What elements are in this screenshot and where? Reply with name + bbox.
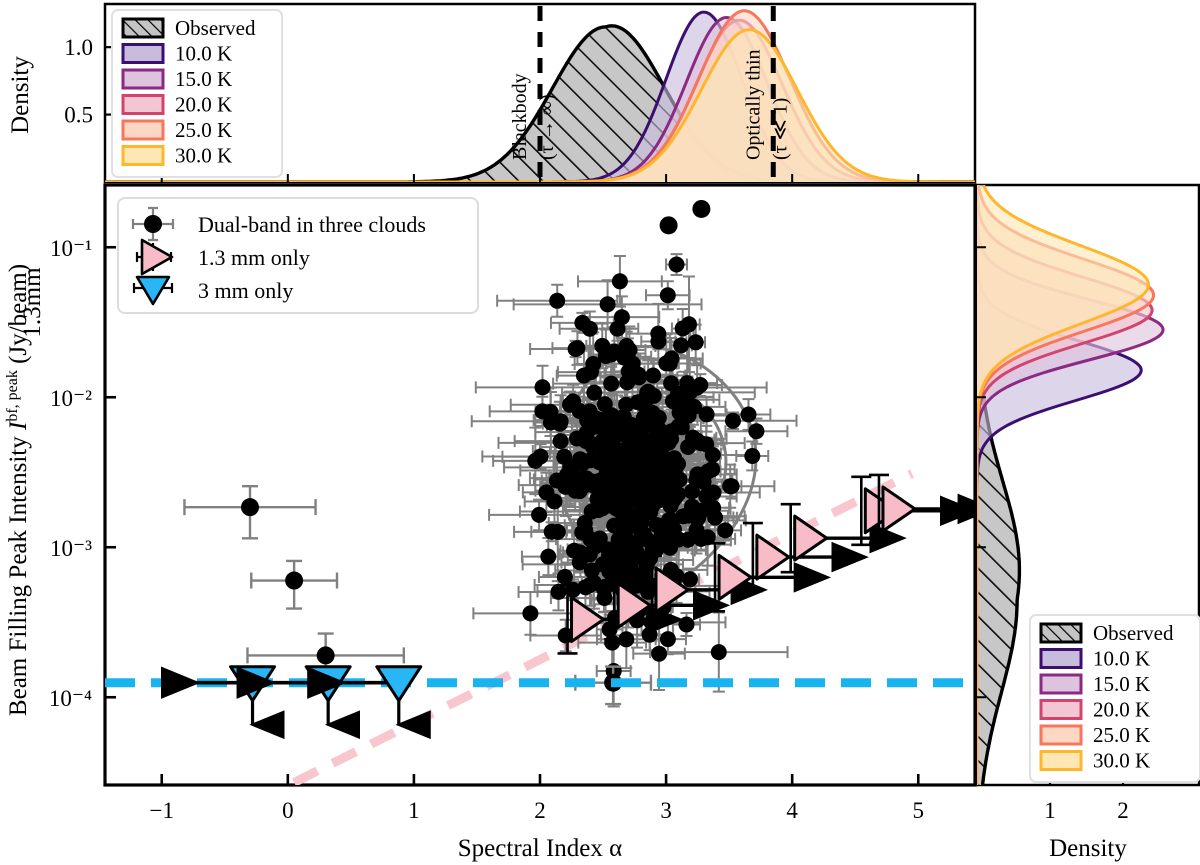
optically-thin-line-label-2: (τ ≪ 1) xyxy=(769,98,791,160)
right-kde-legend-item-1[interactable]: 10.0 K xyxy=(1041,647,1150,671)
scatter-point xyxy=(688,472,704,488)
top-kde-legend-label: 30.0 K xyxy=(175,144,232,168)
scatter-point xyxy=(637,410,653,426)
scatter-point xyxy=(692,377,708,393)
scatter-point xyxy=(604,635,620,651)
scatter-point xyxy=(596,412,612,428)
top-kde-legend-label: 20.0 K xyxy=(175,93,232,117)
scatter-point xyxy=(603,442,619,458)
right-kde-legend-label: 20.0 K xyxy=(1093,698,1150,722)
x-tick-label: 1 xyxy=(408,798,420,823)
x-tick-label: 2 xyxy=(534,798,546,823)
right-kde-legend-item-0[interactable]: Observed xyxy=(1041,621,1174,645)
scatter-point xyxy=(744,448,760,464)
scatter-point xyxy=(682,571,698,587)
top-kde-legend-swatch xyxy=(123,96,163,114)
figure-root: Blackbody(τ → ∞)Optically thin(τ ≪ 1) −1… xyxy=(0,0,1200,865)
scatter-point xyxy=(619,374,635,390)
top-kde-legend-item-4[interactable]: 25.0 K xyxy=(123,118,232,142)
outlier-point xyxy=(241,498,259,516)
scatter-point xyxy=(663,375,679,391)
top-kde-legend-item-3[interactable]: 20.0 K xyxy=(123,93,232,117)
scatter-point xyxy=(707,510,723,526)
x-tick-label: 5 xyxy=(913,798,925,823)
scatter-point xyxy=(642,627,658,643)
scatter-point xyxy=(534,403,550,419)
right-kde-legend-item-5[interactable]: 30.0 K xyxy=(1041,749,1150,773)
right-kde-legend[interactable]: Observed10.0 K15.0 K20.0 K25.0 K30.0 K xyxy=(1030,615,1200,782)
y-tick-label: 10⁻² xyxy=(50,386,92,411)
top-kde-legend-swatch xyxy=(123,121,163,139)
right-kde-legend-swatch xyxy=(1041,650,1081,668)
scatter-point xyxy=(535,379,551,395)
legend-circle-icon xyxy=(144,215,162,233)
top-kde-legend-label: Observed xyxy=(175,16,256,40)
scatter-point xyxy=(717,522,733,538)
scatter-point xyxy=(669,257,685,273)
scatter-point xyxy=(722,478,738,494)
scatter-point xyxy=(600,463,616,479)
top-kde-legend-swatch xyxy=(123,45,163,63)
y-tick-label: 10⁻¹ xyxy=(50,236,92,261)
x-tick-label: 4 xyxy=(786,798,798,823)
scatter-point xyxy=(552,416,568,432)
outlier-point xyxy=(660,216,678,234)
right-kde-legend-swatch xyxy=(1041,701,1081,719)
scatter-point xyxy=(583,531,599,547)
scatter-point xyxy=(623,559,639,575)
top-kde-legend-item-5[interactable]: 30.0 K xyxy=(123,144,232,168)
top-kde-legend-label: 10.0 K xyxy=(175,42,232,66)
scatter-point xyxy=(617,528,633,544)
scatter-point xyxy=(600,425,616,441)
top-kde-legend-item-0[interactable]: Observed xyxy=(123,16,256,40)
outlier-point xyxy=(285,572,303,590)
scatter-point xyxy=(660,631,676,647)
scatter-point xyxy=(660,287,676,303)
top-y-tick-label: 0.5 xyxy=(64,103,93,128)
scatter-point xyxy=(643,488,659,504)
scatter-point xyxy=(527,453,543,469)
right-panel-x-label: Density xyxy=(1049,835,1127,862)
scatter-point xyxy=(685,430,701,446)
scatter-point xyxy=(612,273,628,289)
scatter-point xyxy=(531,507,547,523)
right-kde-legend-item-2[interactable]: 15.0 K xyxy=(1041,672,1150,696)
right-x-tick-label: 1 xyxy=(1044,798,1056,823)
main-legend[interactable]: Dual-band in three clouds1.3 mm only3 mm… xyxy=(118,198,478,313)
scatter-point xyxy=(725,413,741,429)
top-y-tick-label: 1.0 xyxy=(64,35,93,60)
right-kde-legend-label: 10.0 K xyxy=(1093,647,1150,671)
x-tick-label: 0 xyxy=(282,798,294,823)
scatter-point xyxy=(698,488,714,504)
scatter-point xyxy=(544,524,560,540)
scatter-point xyxy=(595,556,611,572)
top-kde-legend-item-2[interactable]: 15.0 K xyxy=(123,67,232,91)
scatter-point xyxy=(620,349,636,365)
scatter-point xyxy=(748,423,764,439)
right-kde-legend-label: Observed xyxy=(1093,621,1174,645)
figure-canvas: Blackbody(τ → ∞)Optically thin(τ ≪ 1) −1… xyxy=(0,0,1200,865)
scatter-point xyxy=(560,472,576,488)
scatter-point xyxy=(602,490,618,506)
top-kde-legend-swatch xyxy=(123,70,163,88)
top-kde-legend-label: 25.0 K xyxy=(175,118,232,142)
ylabel-sub-pad xyxy=(19,338,46,713)
scatter-point xyxy=(597,590,613,606)
scatter-point xyxy=(664,351,680,367)
scatter-point xyxy=(646,451,662,467)
x-axis-label: Spectral Index α xyxy=(458,835,622,862)
optically-thin-line-label-1: Optically thin xyxy=(742,49,764,160)
y-tick-label: 10⁻³ xyxy=(50,536,92,561)
x-tick-label: −1 xyxy=(149,798,173,823)
scatter-point xyxy=(556,449,572,465)
scatter-point xyxy=(598,348,614,364)
outlier-point xyxy=(692,200,710,218)
scatter-point xyxy=(538,484,554,500)
right-kde-legend-label: 15.0 K xyxy=(1093,672,1150,696)
scatter-point xyxy=(572,483,588,499)
x-tick-label: 3 xyxy=(660,798,672,823)
right-kde-legend-swatch xyxy=(1041,752,1081,770)
scatter-point xyxy=(569,431,585,447)
scatter-point xyxy=(565,393,581,409)
scatter-point xyxy=(675,321,691,337)
top-panel-y-label: Density xyxy=(7,56,34,134)
scatter-point xyxy=(661,512,677,528)
top-kde-legend-swatch xyxy=(123,147,163,165)
main-legend-label: 3 mm only xyxy=(198,278,293,303)
scatter-point xyxy=(583,364,599,380)
scatter-point xyxy=(645,368,661,384)
scatter-point xyxy=(582,546,598,562)
scatter-point xyxy=(673,337,689,353)
scatter-point xyxy=(600,296,616,312)
scatter-point xyxy=(651,646,667,662)
y-tick-label: 10⁻⁴ xyxy=(49,686,92,711)
ylabel-sub: 1.3mm xyxy=(19,267,46,338)
scatter-point xyxy=(711,644,727,660)
scatter-point xyxy=(583,452,599,468)
scatter-point xyxy=(672,472,688,488)
right-kde-legend-label: 30.0 K xyxy=(1093,749,1150,773)
main-legend-label: Dual-band in three clouds xyxy=(198,212,426,237)
scatter-point xyxy=(644,471,660,487)
scatter-point xyxy=(665,491,681,507)
svg-text:1.3mm: 1.3mm xyxy=(19,267,46,713)
main-legend-label: 1.3 mm only xyxy=(198,245,310,270)
scatter-point xyxy=(618,414,634,430)
scatter-point xyxy=(688,334,704,350)
scatter-point xyxy=(557,569,573,585)
right-x-tick-label: 2 xyxy=(1117,798,1129,823)
right-kde-legend-swatch xyxy=(1041,624,1081,642)
right-kde-legend-item-4[interactable]: 25.0 K xyxy=(1041,723,1150,747)
scatter-point xyxy=(549,293,565,309)
outlier-point xyxy=(317,646,335,664)
right-kde-legend-item-3[interactable]: 20.0 K xyxy=(1041,698,1150,722)
scatter-point xyxy=(540,549,556,565)
scatter-point xyxy=(610,321,626,337)
top-kde-legend-swatch xyxy=(123,19,163,37)
blackbody-line-label-1: Blackbody xyxy=(509,73,531,160)
right-kde-legend-label: 25.0 K xyxy=(1093,723,1150,747)
scatter-point xyxy=(652,423,668,439)
right-kde-legend-swatch xyxy=(1041,726,1081,744)
scatter-point xyxy=(568,341,584,357)
top-kde-legend[interactable]: Observed10.0 K15.0 K20.0 K25.0 K30.0 K xyxy=(112,10,282,177)
main-y-axis-label: Beam Filling Peak Intensity Ibf, peak (J… xyxy=(4,264,46,716)
scatter-point xyxy=(613,502,629,518)
scatter-point xyxy=(679,617,695,633)
scatter-point xyxy=(627,446,643,462)
blackbody-line-label-2: (τ → ∞) xyxy=(536,94,558,160)
top-kde-legend-label: 15.0 K xyxy=(175,67,232,91)
top-kde-legend-item-1[interactable]: 10.0 K xyxy=(123,42,232,66)
scatter-point xyxy=(522,605,538,621)
scatter-point xyxy=(688,509,704,525)
scatter-point xyxy=(741,407,757,423)
scatter-point xyxy=(705,447,721,463)
scatter-point xyxy=(553,433,569,449)
scatter-point xyxy=(578,579,594,595)
scatter-point xyxy=(603,376,619,392)
scatter-point xyxy=(650,334,666,350)
right-kde-legend-swatch xyxy=(1041,675,1081,693)
scatter-point xyxy=(582,321,598,337)
scatter-point xyxy=(642,504,658,520)
